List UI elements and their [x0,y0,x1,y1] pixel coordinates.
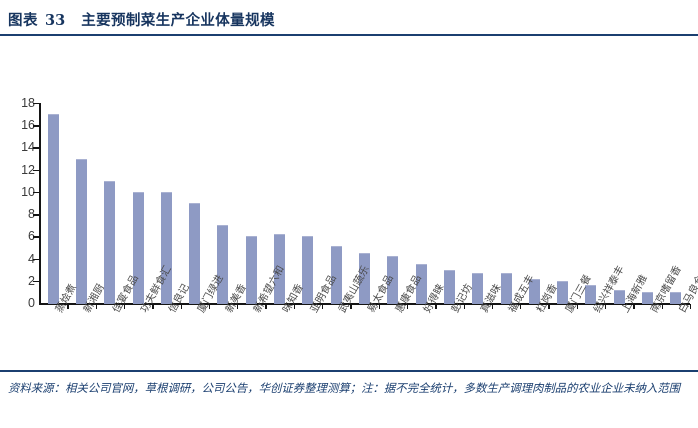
bar [302,236,313,304]
exhibit-title-bar: 图表 33 主要预制菜生产企业体量规模 [0,0,698,36]
source-note: 资料来源：相关公司官网，草根调研，公司公告，华创证券整理测算；注：据不完全统计，… [8,379,690,399]
bar-chart: 024681012141618 蒸烩煮新湘厨佳宴食品功夫鲜食汇信良记厦门绿进新美… [0,46,698,396]
y-axis-tick-label: 0 [28,297,35,310]
bar [48,114,59,304]
exhibit-number: 33 [45,12,65,29]
bar [557,281,568,304]
bar [642,292,653,304]
page-title: 主要预制菜生产企业体量规模 [81,9,275,30]
y-axis-line [39,103,41,304]
exhibit-footer: 资料来源：相关公司官网，草根调研，公司公告，华创证券整理测算；注：据不完全统计，… [0,370,698,428]
bar [76,159,87,304]
y-axis-tick-labels: 024681012141618 [10,101,35,301]
exhibit-container: 图表 33 主要预制菜生产企业体量规模 024681012141618 蒸烩煮新… [0,0,698,428]
bar [217,225,228,304]
bar [246,236,257,304]
bar [104,181,115,304]
exhibit-tag-label: 图表 [8,9,38,30]
